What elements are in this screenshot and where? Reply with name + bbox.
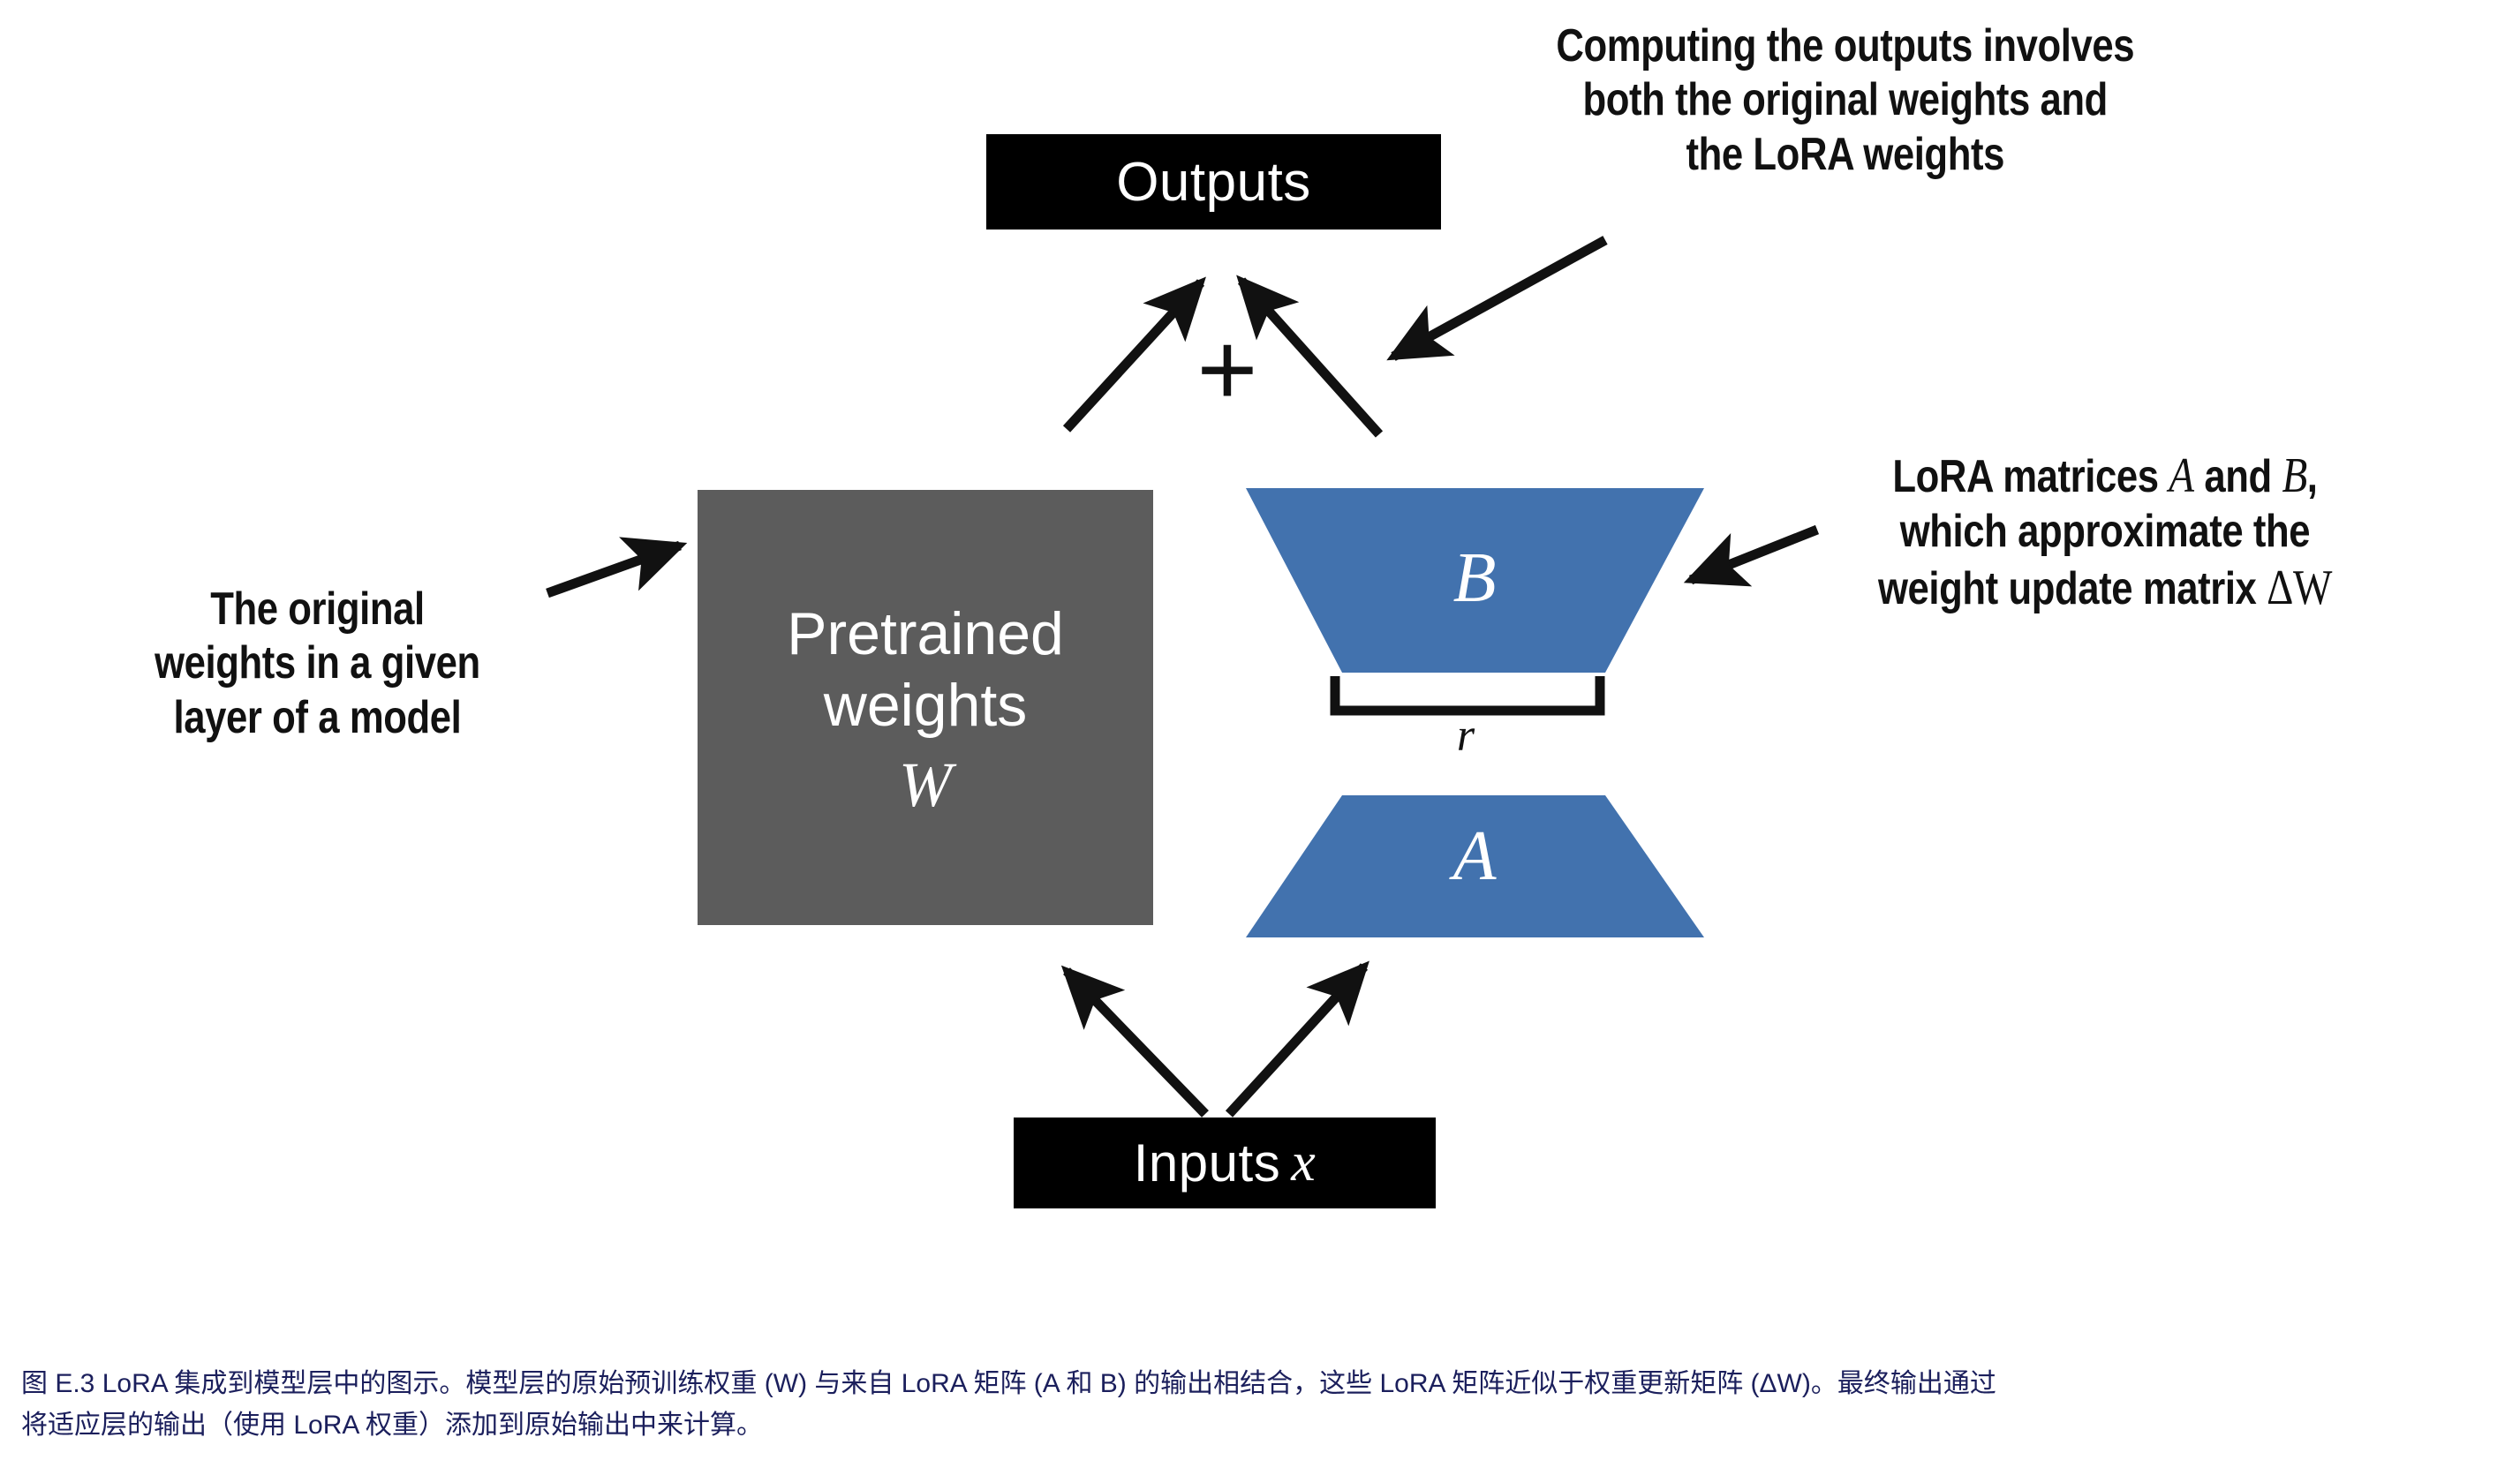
arrow-annot-top	[1393, 240, 1605, 357]
annotation-lora-line-1-mid: and	[2194, 451, 2282, 502]
figure-caption-line-1: 图 E.3 LoRA 集成到模型层中的图示。模型层的原始预训练权重 (W) 与来…	[21, 1364, 2502, 1405]
annotation-lora-matrices: LoRA matrices A and B, which approximate…	[1878, 447, 2332, 618]
annotation-outputs-line-3: the LoRA weights	[1556, 128, 2134, 182]
figure-caption: 图 E.3 LoRA 集成到模型层中的图示。模型层的原始预训练权重 (W) 与来…	[21, 1364, 2502, 1446]
annotation-lora-line-3-pre: weight update matrix	[1878, 563, 2267, 614]
annotation-outputs: Computing the outputs involves both the …	[1556, 19, 2134, 182]
figure-caption-line-2: 将适应层的输出（使用 LoRA 权重）添加到原始输出中来计算。	[21, 1405, 2502, 1447]
arrow-inputs-to-lora	[1229, 967, 1364, 1114]
annotation-pretrained-line-2: weights in a given	[155, 636, 480, 690]
annotation-lora-symbol-b: B	[2282, 448, 2306, 503]
arrow-annot-left	[547, 546, 680, 593]
annotation-pretrained: The original weights in a given layer of…	[155, 583, 480, 745]
inputs-symbol: x	[1291, 1132, 1316, 1194]
plus-operator: +	[1174, 318, 1280, 422]
lora-matrix-a-label: A	[1422, 821, 1528, 892]
annotation-lora-symbol-delta-w: ΔW	[2267, 561, 2332, 615]
inputs-label: Inputs	[1134, 1133, 1280, 1193]
pretrained-weights-line1: Pretrained	[787, 598, 1064, 669]
pretrained-weights-node: Pretrained weights W	[698, 490, 1153, 925]
arrow-annot-right	[1691, 530, 1817, 580]
pretrained-weights-symbol: W	[899, 753, 952, 817]
annotation-pretrained-line-1: The original	[155, 583, 480, 636]
arrow-inputs-to-pretrained	[1067, 971, 1205, 1114]
annotation-pretrained-line-3: layer of a model	[155, 691, 480, 745]
annotation-lora-symbol-a: A	[2169, 448, 2193, 503]
annotation-lora-line-1-post: ,	[2307, 451, 2318, 502]
annotation-outputs-line-2: both the original weights and	[1556, 73, 2134, 127]
figure-page: Outputs Inputs x Pretrained weights W B …	[0, 0, 2520, 1460]
annotation-lora-line-1-pre: LoRA matrices	[1892, 451, 2169, 502]
outputs-node: Outputs	[986, 134, 1441, 230]
rank-bracket	[1335, 676, 1600, 711]
outputs-label: Outputs	[1116, 151, 1311, 214]
inputs-node: Inputs x	[1014, 1118, 1436, 1208]
annotation-outputs-line-1: Computing the outputs involves	[1556, 19, 2134, 73]
rank-label: r	[1439, 713, 1492, 759]
pretrained-weights-line2: weights	[824, 670, 1028, 741]
annotation-lora-line-2: which approximate the	[1878, 505, 2332, 559]
lora-matrix-b-label: B	[1422, 543, 1528, 613]
annotation-lora-line-3: weight update matrix ΔW	[1878, 559, 2332, 617]
annotation-lora-line-1: LoRA matrices A and B,	[1878, 447, 2332, 505]
